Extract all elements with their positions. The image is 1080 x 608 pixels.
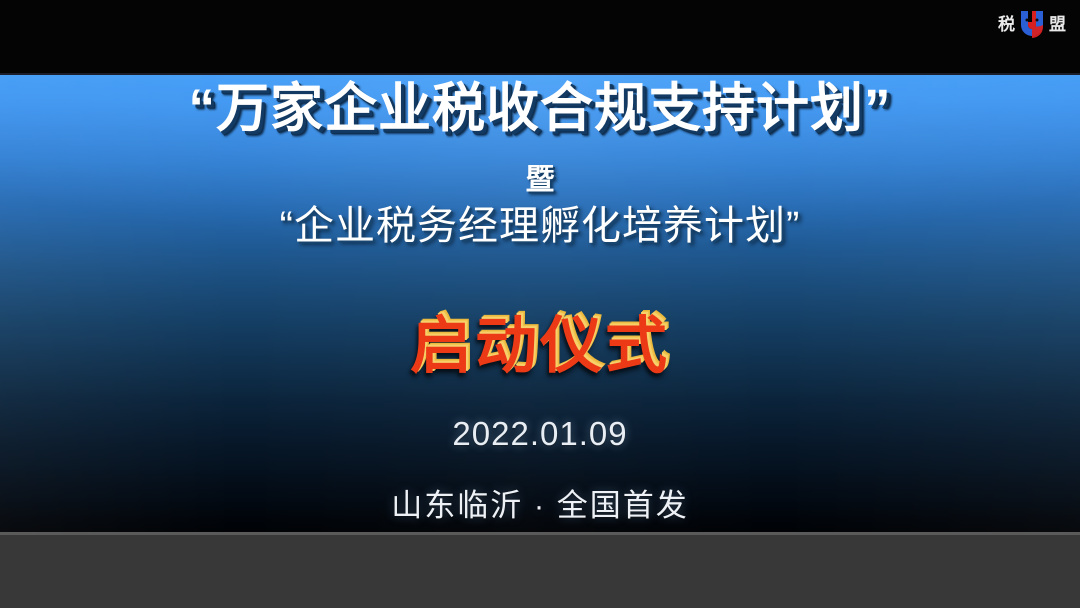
slide-subheadline: “企业税务经理孵化培养计划” xyxy=(0,203,1080,249)
bottom-chrome-fill xyxy=(0,535,1080,608)
presentation-slide: “万家企业税收合规支持计划” 暨 “企业税务经理孵化培养计划” 启动仪式 202… xyxy=(0,75,1080,532)
top-letterbox-bar: 税 盟 xyxy=(0,0,1080,75)
brand-logo: 税 盟 xyxy=(998,7,1066,41)
screenshot-root: 税 盟 “万家企业税收合规支持计划” 暨 “企业税务经理孵化培养计划” 启动仪式… xyxy=(0,0,1080,608)
logo-left-character: 税 xyxy=(998,16,1015,33)
logo-right-character: 盟 xyxy=(1049,16,1066,33)
tax-alliance-u-emblem-icon xyxy=(1018,9,1046,39)
bottom-chrome-bar xyxy=(0,532,1080,608)
slide-date: 2022.01.09 xyxy=(0,416,1080,452)
slide-ceremony-title: 启动仪式 xyxy=(0,313,1080,381)
slide-content: “万家企业税收合规支持计划” 暨 “企业税务经理孵化培养计划” 启动仪式 202… xyxy=(0,75,1080,532)
slide-headline: “万家企业税收合规支持计划” xyxy=(0,81,1080,137)
slide-connector-word: 暨 xyxy=(0,165,1080,197)
slide-location: 山东临沂 · 全国首发 xyxy=(0,489,1080,523)
